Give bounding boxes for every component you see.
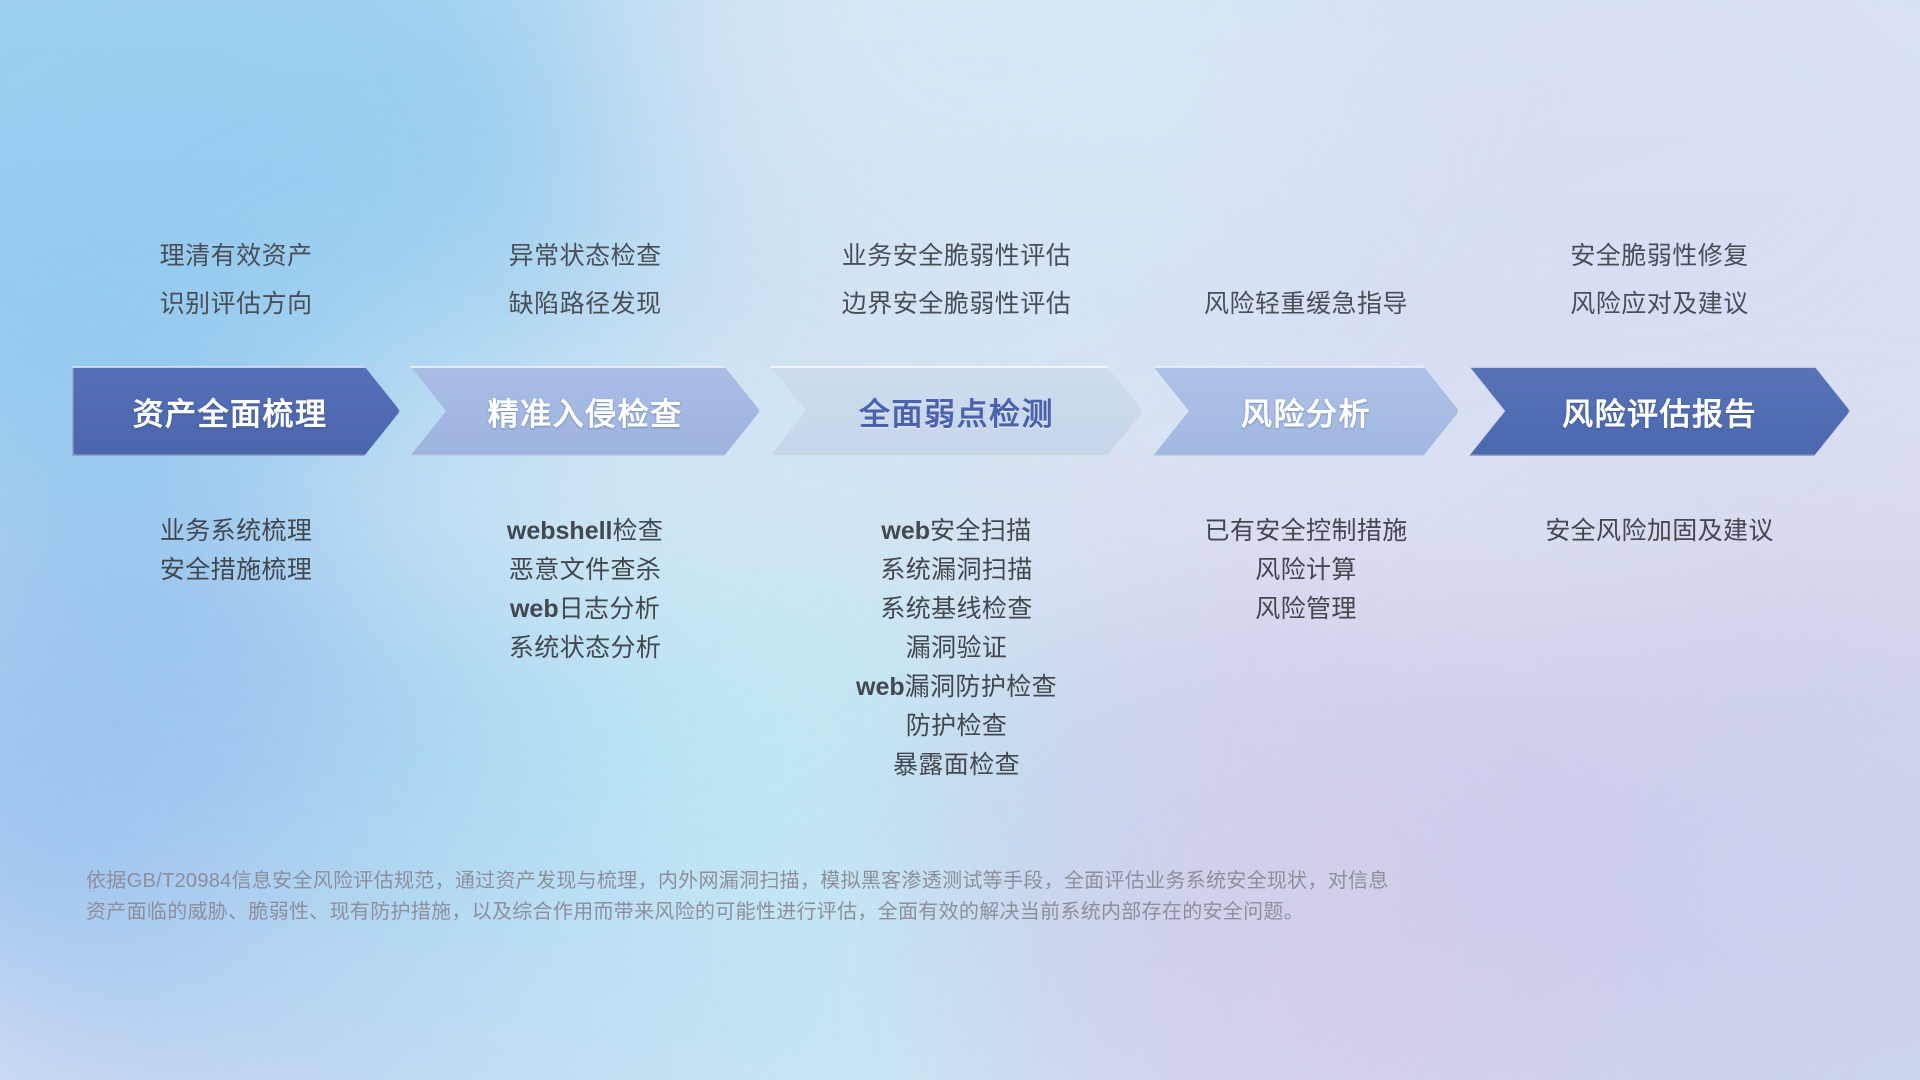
stage-top-item: 风险应对及建议	[1320, 280, 1920, 328]
diagram-content: 理清有效资产识别评估方向异常状态检查缺陷路径发现业务安全脆弱性评估边界安全脆弱性…	[0, 0, 1920, 1080]
footer-line-2: 资产面临的威胁、脆弱性、现有防护措施，以及综合作用而带来风险的可能性进行评估，全…	[86, 897, 1486, 928]
stage-title: 风险评估报告	[1562, 389, 1757, 434]
stage-bottom-item: 暴露面检查	[617, 746, 1297, 785]
stage-title: 全面弱点检测	[859, 389, 1054, 434]
stage-bottom-item: 安全风险加固及建议	[1320, 512, 1920, 551]
process-stage-assessment-report[interactable]: 风险评估报告	[1469, 366, 1850, 456]
stage-bottom-list-assessment-report: 安全风险加固及建议	[1320, 512, 1920, 551]
latin-prefix: web	[881, 517, 930, 545]
slide-canvas: 理清有效资产识别评估方向异常状态检查缺陷路径发现业务安全脆弱性评估边界安全脆弱性…	[0, 0, 1920, 1080]
stage-bottom-item: 漏洞验证	[617, 629, 1297, 668]
stage-bottom-item: 风险管理	[966, 590, 1646, 629]
stage-title: 风险分析	[1241, 389, 1371, 434]
stage-bottom-item: 防护检查	[617, 707, 1297, 746]
process-stage-asset-inventory[interactable]: 资产全面梳理	[72, 366, 400, 456]
latin-prefix: web	[856, 673, 905, 701]
latin-prefix: web	[510, 595, 559, 623]
stage-top-item: 业务安全脆弱性评估	[617, 232, 1297, 280]
process-stage-weakness-detection[interactable]: 全面弱点检测	[770, 366, 1143, 456]
item-text-rest: 漏洞防护检查	[905, 673, 1057, 701]
footer-line-1: 依据GB/T20984信息安全风险评估规范，通过资产发现与梳理，内外网漏洞扫描，…	[86, 866, 1486, 897]
stage-title: 资产全面梳理	[133, 389, 328, 434]
stage-top-item: 安全脆弱性修复	[1320, 232, 1920, 280]
stage-bottom-item: 风险计算	[966, 551, 1646, 590]
stage-bottom-item: web漏洞防护检查	[617, 668, 1297, 707]
process-stage-risk-analysis[interactable]: 风险分析	[1153, 366, 1459, 456]
stage-title: 精准入侵检查	[488, 389, 683, 434]
process-stage-intrusion-check[interactable]: 精准入侵检查	[410, 366, 760, 456]
footer-description: 依据GB/T20984信息安全风险评估规范，通过资产发现与梳理，内外网漏洞扫描，…	[86, 866, 1486, 928]
latin-prefix: webshell	[507, 517, 613, 545]
stage-top-list-assessment-report: 安全脆弱性修复风险应对及建议	[1320, 232, 1920, 328]
process-chevron-band: 资产全面梳理精准入侵检查全面弱点检测风险分析风险评估报告	[72, 366, 1850, 456]
